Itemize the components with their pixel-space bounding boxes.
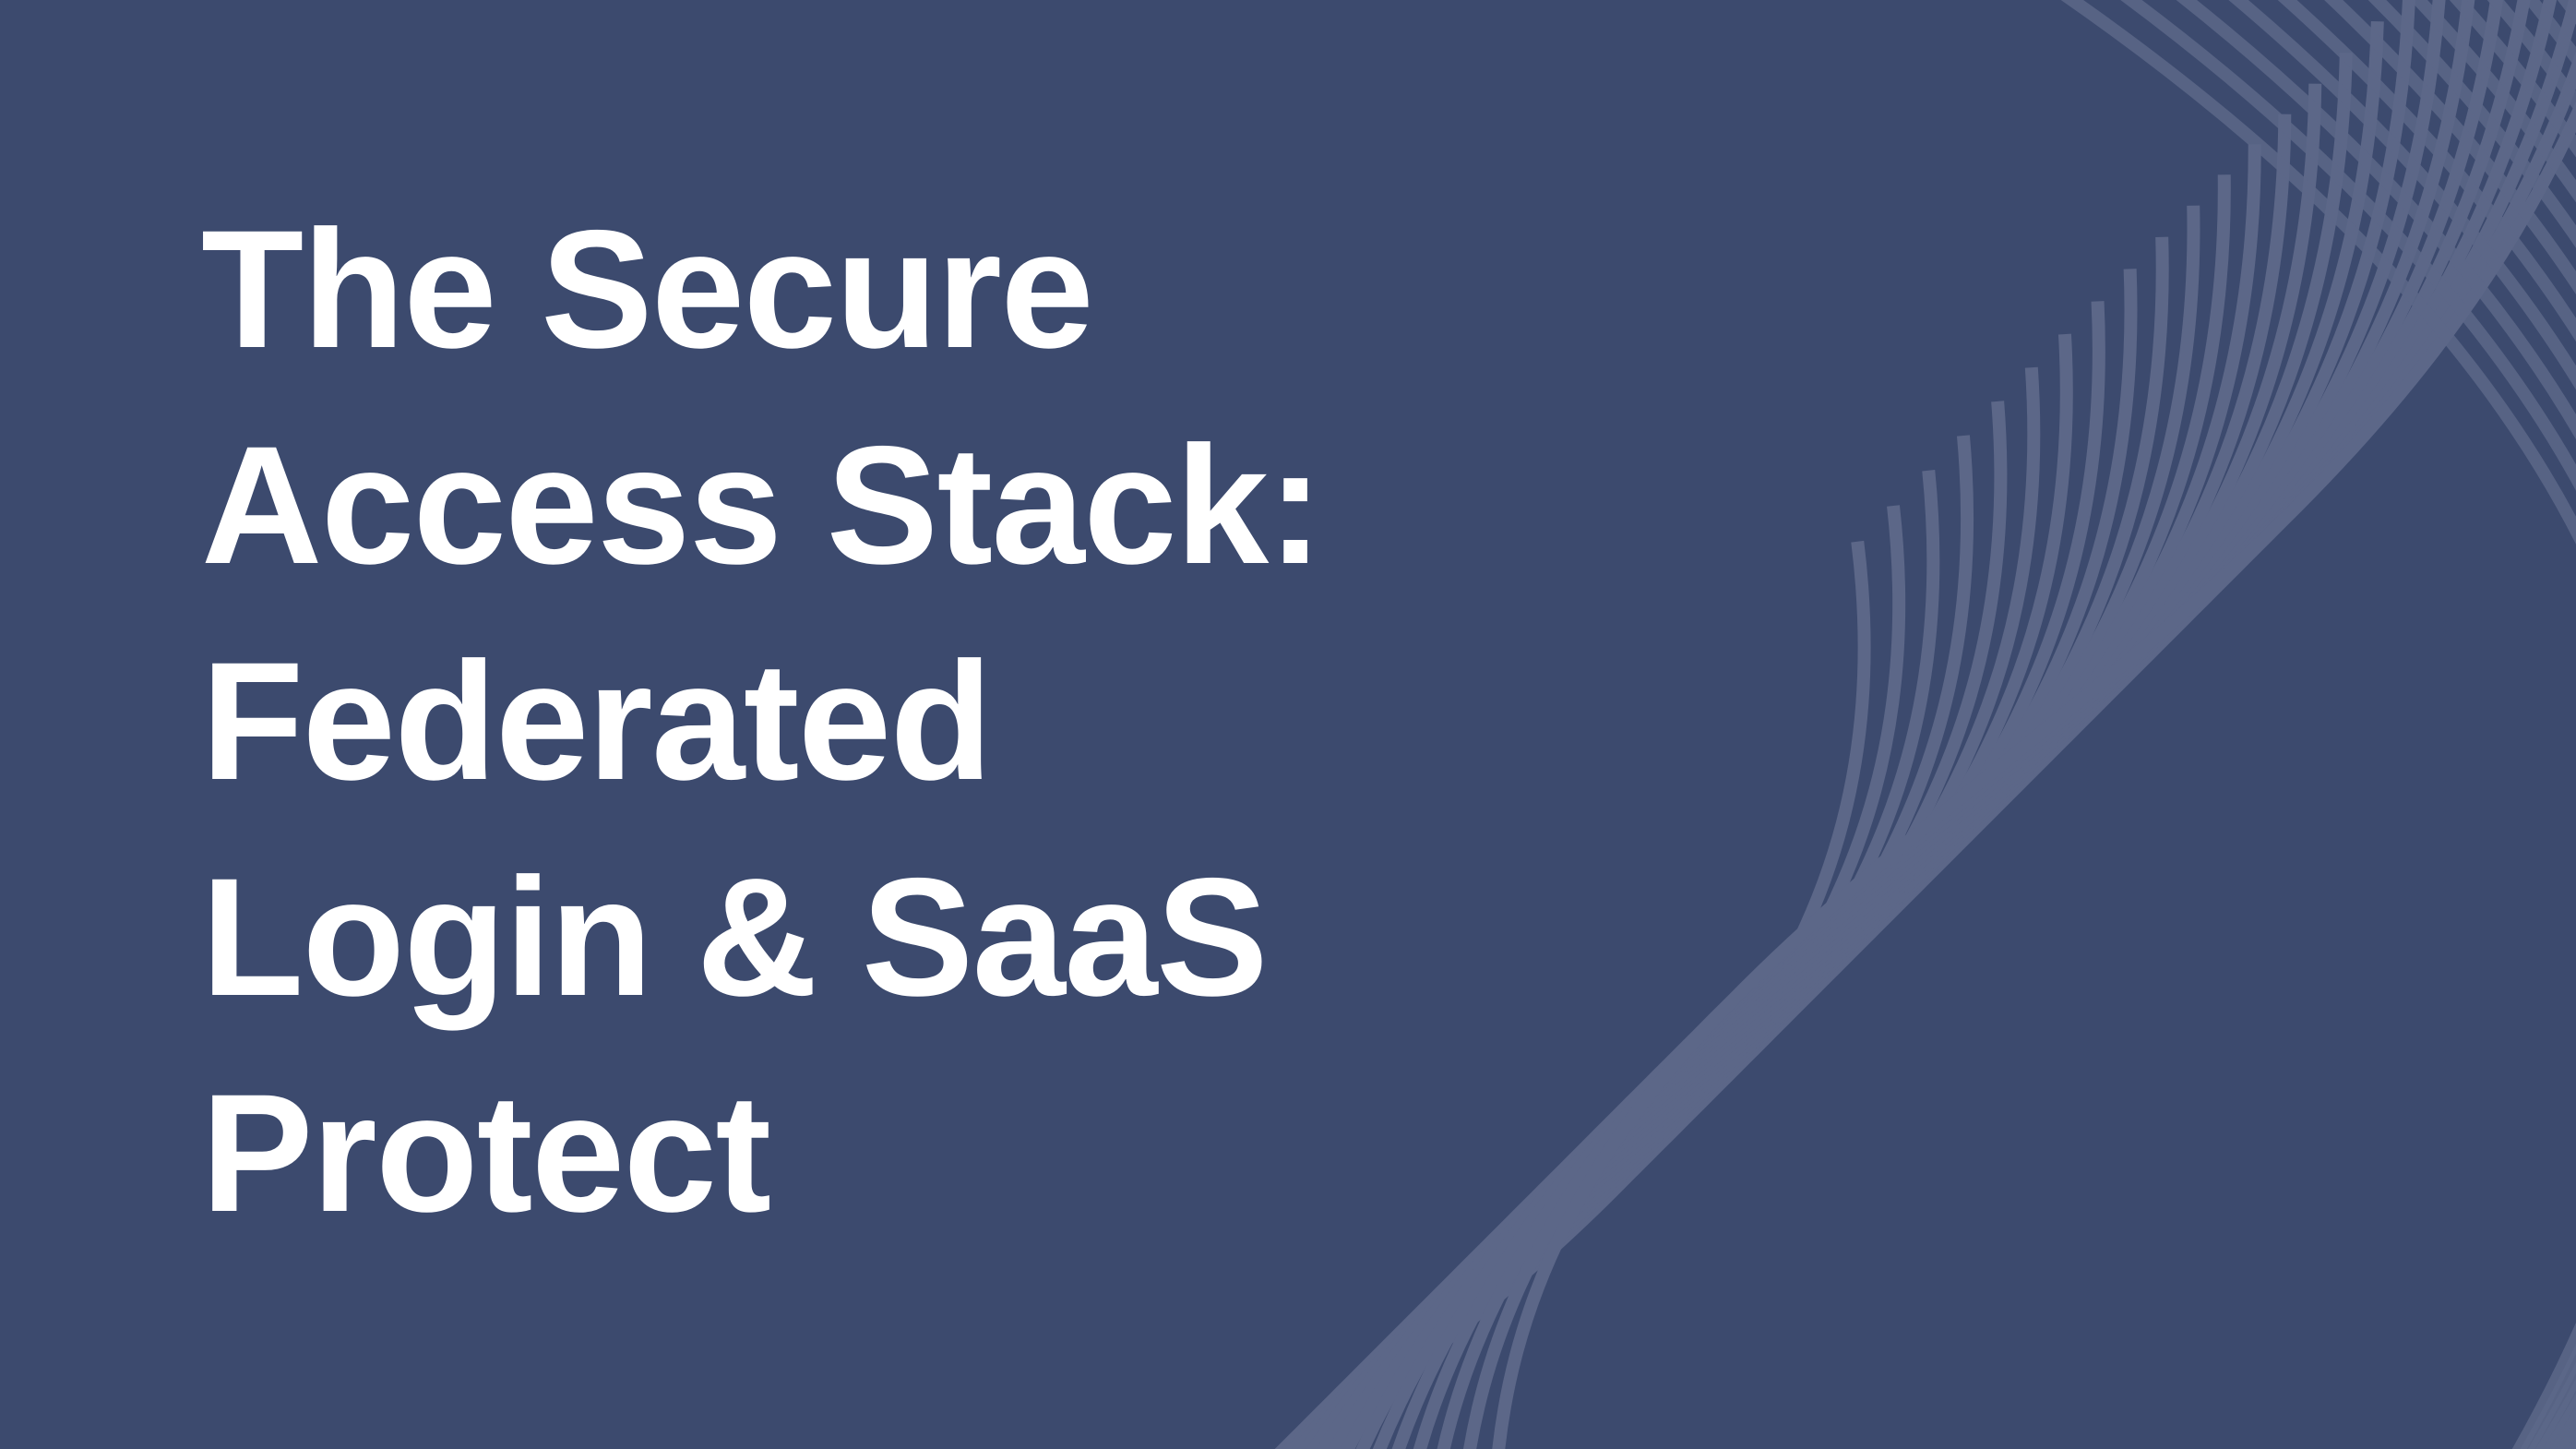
stripe-line [2358, 0, 2576, 1449]
stripe-line [2030, 0, 2576, 1449]
stripe-line [2200, 0, 2576, 1449]
stripe-line [1391, 0, 2576, 1449]
page-title: The Secure Access Stack: Federated Login… [201, 181, 1428, 1261]
stripe-line [2176, 0, 2576, 1449]
stripe-line [1979, 0, 2576, 1449]
stripe-line [2153, 0, 2576, 1449]
title-line-4: Login & SaaS [201, 829, 1428, 1045]
stripe-line [2335, 0, 2576, 1449]
stripe-line [2268, 0, 2576, 1449]
title-line-3: Federated [201, 613, 1428, 829]
stripe-line [1358, 0, 2542, 1449]
stripe-line [2129, 0, 2576, 1449]
stripe-line [2405, 0, 2576, 1449]
stripe-line [2105, 0, 2576, 1449]
stripe-line [2055, 0, 2576, 1449]
title-line-5: Protect [201, 1045, 1428, 1261]
stripe-line [2223, 0, 2576, 1449]
stripe-line [1425, 0, 2576, 1449]
stripe-line [1325, 0, 2509, 1449]
stripe-line [2290, 0, 2576, 1449]
stripe-line [1259, 0, 2441, 1449]
title-line-2: Access Stack: [201, 397, 1428, 613]
stripe-line [2080, 0, 2576, 1449]
stripe-line [2429, 0, 2576, 1449]
title-slide: The Secure Access Stack: Federated Login… [0, 0, 2576, 1449]
stripe-line [2312, 0, 2576, 1449]
stripe-line [2478, 0, 2576, 1449]
stripe-line [2005, 0, 2576, 1449]
stripe-line [1494, 0, 2576, 1449]
stripe-line [2553, 0, 2576, 1449]
title-line-1: The Secure [201, 181, 1428, 397]
stripe-line [1460, 0, 2576, 1449]
stripe-line [2246, 0, 2576, 1449]
stripe-line [2503, 0, 2576, 1449]
stripe-line [2453, 0, 2576, 1449]
stripe-line [2528, 0, 2576, 1449]
stripe-line [2381, 0, 2576, 1449]
stripe-line [1292, 0, 2475, 1449]
